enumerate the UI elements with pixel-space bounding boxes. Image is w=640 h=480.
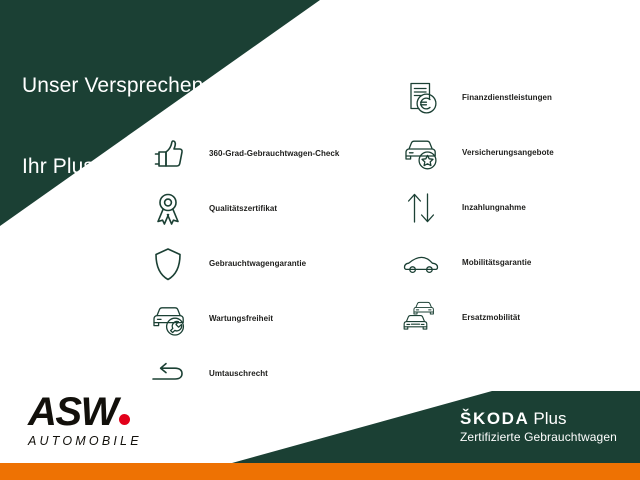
dealer-logo: ASW AUTOMOBILE [28, 392, 188, 448]
feature-item: Finanzdienstleistungen [398, 70, 640, 125]
feature-label: 360-Grad-Gebrauchtwagen-Check [209, 149, 339, 158]
return-arrow-icon [145, 351, 191, 397]
program-logo-plus: Plus [533, 409, 566, 428]
dealer-logo-name: ASW [28, 390, 117, 434]
feature-label: Finanzdienstleistungen [462, 93, 552, 102]
feature-label: Mobilitätsgarantie [462, 258, 531, 267]
feature-label: Versicherungsangebote [462, 148, 554, 157]
feature-label: Inzahlungnahme [462, 203, 526, 212]
program-logo-mark: ŠKODA [460, 409, 529, 428]
feature-label: Qualitätszertifikat [209, 204, 277, 213]
feature-label: Umtauschrecht [209, 369, 268, 378]
shield-icon [145, 241, 191, 287]
promo-banner: Unser Versprechen. Ihr Plus. 360-Grad-Ge… [0, 0, 640, 480]
dealer-logo-wordmark: ASW [28, 392, 188, 432]
feature-item: Ersatzmobilität [398, 290, 640, 345]
feature-item: Qualitätszertifikat [145, 181, 395, 236]
document-euro-icon [398, 75, 444, 121]
program-logo-line-1: ŠKODAPlus [460, 410, 617, 428]
feature-label: Gebrauchtwagengarantie [209, 259, 306, 268]
dealer-logo-subtitle: AUTOMOBILE [28, 434, 188, 448]
car-star-icon [398, 130, 444, 176]
two-cars-icon [398, 295, 444, 341]
feature-item: Gebrauchtwagengarantie [145, 236, 395, 291]
award-ribbon-icon [145, 186, 191, 232]
feature-item: Inzahlungnahme [398, 180, 640, 235]
program-logo-tagline: Zertifizierte Gebrauchtwagen [460, 430, 617, 444]
feature-list-left: 360-Grad-Gebrauchtwagen-Check Qualitätsz… [145, 126, 395, 401]
car-wrench-icon [145, 296, 191, 342]
car-side-icon [398, 240, 444, 286]
dealer-logo-dot [119, 414, 130, 425]
thumbs-up-icon [145, 131, 191, 177]
feature-item: Wartungsfreiheit [145, 291, 395, 346]
feature-item: Mobilitätsgarantie [398, 235, 640, 290]
feature-label: Ersatzmobilität [462, 313, 520, 322]
feature-label: Wartungsfreiheit [209, 314, 273, 323]
program-logo: ŠKODAPlus Zertifizierte Gebrauchtwagen [460, 410, 617, 444]
feature-item: 360-Grad-Gebrauchtwagen-Check [145, 126, 395, 181]
feature-item: Versicherungsangebote [398, 125, 640, 180]
feature-list-right: Finanzdienstleistungen Versicherungsange… [398, 70, 640, 345]
up-down-arrows-icon [398, 185, 444, 231]
headline-line-1: Unser Versprechen. [22, 72, 209, 99]
orange-accent-bar [0, 463, 640, 480]
